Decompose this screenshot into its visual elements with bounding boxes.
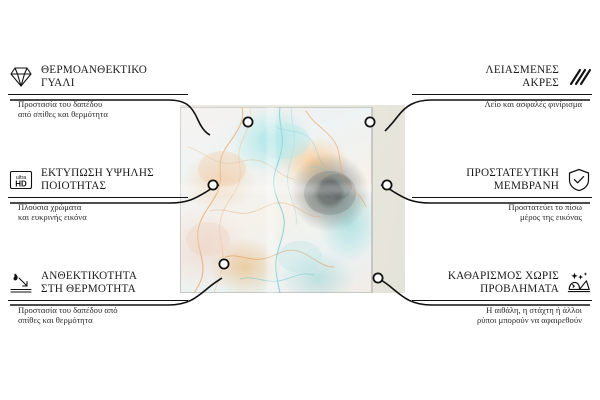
feature-description: Λείο και ασφαλές φινίρισμα: [412, 99, 592, 109]
feature-title: ΕΚΤΥΠΩΣΗ ΥΨΗΛΗΣ ΠΟΙΟΤΗΤΑΣ: [41, 167, 154, 192]
feature-easy-cleaning: ΚΑΘΑΡΙΣΜΟΣ ΧΩΡΙΣ ΠΡΟΒΛΗΜΑΤΑ Η αιθάλη,: [412, 270, 592, 326]
feature-description: Η αιθάλη, η στάχτη ή άλλοι ρύποι μπορούν…: [412, 305, 592, 326]
infographic-canvas: ΘΕΡΜΟΑΝΘΕΚΤΙΚΟ ΓΥΑΛΙ Προστασία του δαπέδ…: [0, 0, 600, 400]
feature-header: ΚΑΘΑΡΙΣΜΟΣ ΧΩΡΙΣ ΠΡΟΒΛΗΜΑΤΑ: [412, 270, 592, 296]
ultra-hd-icon: ultra HD: [8, 167, 34, 193]
diamond-icon: [8, 64, 34, 90]
feature-title: ΑΝΘΕΚΤΙΚΟΤΗΤΑ ΣΤΗ ΘΕΡΜΟΤΗΤΑ: [41, 270, 137, 295]
feature-title: ΛΕΙΑΣΜΕΝΕΣ ΑΚΡΕΣ: [486, 64, 559, 89]
divider: [8, 300, 188, 301]
feature-heat-resistant-glass: ΘΕΡΜΟΑΝΘΕΚΤΙΚΟ ΓΥΑΛΙ Προστασία του δαπέδ…: [8, 64, 188, 120]
divider: [412, 94, 592, 95]
feature-heat-durability: ΑΝΘΕΚΤΙΚΟΤΗΤΑ ΣΤΗ ΘΕΡΜΟΤΗΤΑ Προστασία το…: [8, 270, 188, 326]
feature-description: Προστατεύει το πίσω μέρος της εικόνας: [412, 202, 592, 223]
polished-edges-icon: [566, 64, 592, 90]
divider: [412, 197, 592, 198]
marble-veins: [180, 107, 372, 293]
feature-polished-edges: ΛΕΙΑΣΜΕΝΕΣ ΑΚΡΕΣ Λείο και ασφαλές φινίρι…: [412, 64, 592, 109]
feature-title: ΠΡΟΣΤΑΤΕΥΤΙΚΗ ΜΕΜΒΡΑΝΗ: [466, 167, 559, 192]
divider: [412, 300, 592, 301]
shield-check-icon: [566, 167, 592, 193]
feature-header: ΘΕΡΜΟΑΝΘΕΚΤΙΚΟ ΓΥΑΛΙ: [8, 64, 188, 90]
feature-header: ultra HD ΕΚΤΥΠΩΣΗ ΥΨΗΛΗΣ ΠΟΙΟΤΗΤΑΣ: [8, 167, 188, 193]
svg-text:HD: HD: [15, 179, 27, 188]
feature-header: ΑΝΘΕΚΤΙΚΟΤΗΤΑ ΣΤΗ ΘΕΡΜΟΤΗΤΑ: [8, 270, 188, 296]
easy-cleaning-icon: [566, 270, 592, 296]
feature-description: Προστασία του δαπέδου από σπίθες και θερ…: [8, 99, 188, 120]
feature-title: ΘΕΡΜΟΑΝΘΕΚΤΙΚΟ ΓΥΑΛΙ: [41, 64, 147, 89]
product-image: [180, 105, 410, 295]
divider: [8, 197, 188, 198]
feature-description: Πλούσια χρώματα και ευκρινής εικόνα: [8, 202, 188, 223]
feature-header: ΠΡΟΣΤΑΤΕΥΤΙΚΗ ΜΕΜΒΡΑΝΗ: [412, 167, 592, 193]
feature-high-quality-print: ultra HD ΕΚΤΥΠΩΣΗ ΥΨΗΛΗΣ ΠΟΙΟΤΗΤΑΣ Πλούσ…: [8, 167, 188, 223]
feature-protective-membrane: ΠΡΟΣΤΑΤΕΥΤΙΚΗ ΜΕΜΒΡΑΝΗ Προστατεύει το πί…: [412, 167, 592, 223]
heat-resistance-icon: [8, 270, 34, 296]
feature-description: Προστασία του δαπέδου από σπίθες και θερ…: [8, 305, 188, 326]
feature-title: ΚΑΘΑΡΙΣΜΟΣ ΧΩΡΙΣ ΠΡΟΒΛΗΜΑΤΑ: [448, 270, 559, 295]
product-glass-panel: [180, 107, 372, 293]
feature-header: ΛΕΙΑΣΜΕΝΕΣ ΑΚΡΕΣ: [412, 64, 592, 90]
divider: [8, 94, 188, 95]
